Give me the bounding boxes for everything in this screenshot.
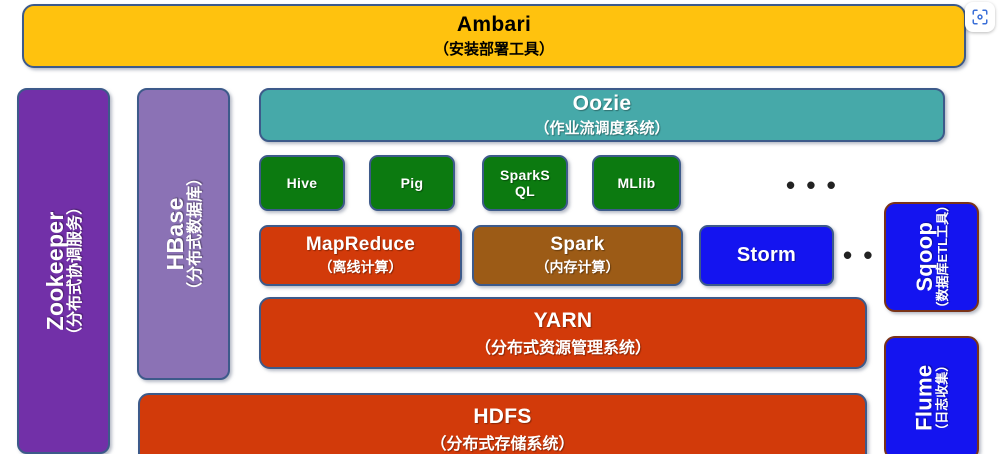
zookeeper-desc: （分布式协调服务） — [67, 199, 85, 343]
storm-block: Storm — [699, 225, 834, 286]
sparksql-title-line2: QL — [515, 183, 535, 199]
mapreduce-block: MapReduce （离线计算） — [259, 225, 462, 286]
zookeeper-label-group: Zookeeper （分布式协调服务） — [43, 199, 85, 343]
tools-ellipsis: • • • — [786, 172, 838, 198]
scan-frame-icon[interactable] — [965, 2, 995, 32]
hbase-desc: （分布式数据库） — [187, 170, 205, 298]
mapreduce-title: MapReduce — [306, 234, 415, 256]
sqoop-label-group: Sqoop （数据库ETL工具） — [913, 202, 950, 312]
storm-title: Storm — [737, 244, 796, 267]
mllib-title: MLlib — [617, 175, 655, 191]
flume-desc: （日志收集） — [936, 359, 950, 437]
yarn-block: YARN （分布式资源管理系统） — [259, 297, 867, 369]
hbase-title: HBase — [163, 197, 187, 270]
pig-title: Pig — [401, 175, 424, 191]
flume-block: Flume （日志收集） — [884, 336, 979, 454]
flume-title: Flume — [913, 365, 936, 431]
oozie-block: Oozie （作业流调度系统） — [259, 88, 945, 142]
yarn-desc: （分布式资源管理系统） — [475, 334, 651, 358]
hdfs-desc: （分布式存储系统） — [430, 430, 574, 454]
hive-block: Hive — [259, 155, 345, 211]
sparksql-title-line1: SparkS — [500, 167, 550, 183]
spark-title: Spark — [550, 234, 604, 256]
hdfs-title: HDFS — [473, 405, 531, 429]
hadoop-ecosystem-diagram: Ambari （安装部署工具） Zookeeper （分布式协调服务） HBas… — [0, 0, 999, 454]
ambari-title: Ambari — [457, 13, 531, 37]
hive-title: Hive — [287, 175, 318, 191]
ambari-desc: （安装部署工具） — [434, 38, 554, 59]
zookeeper-title: Zookeeper — [43, 211, 67, 330]
pig-block: Pig — [369, 155, 455, 211]
zookeeper-block: Zookeeper （分布式协调服务） — [17, 88, 110, 454]
oozie-desc: （作业流调度系统） — [534, 117, 669, 138]
yarn-title: YARN — [534, 309, 593, 333]
spark-block: Spark （内存计算） — [472, 225, 683, 286]
hbase-label-group: HBase （分布式数据库） — [163, 170, 205, 298]
sqoop-desc: （数据库ETL工具） — [936, 202, 950, 312]
mapreduce-desc: （离线计算） — [319, 257, 403, 277]
sqoop-title: Sqoop — [913, 222, 936, 292]
oozie-title: Oozie — [573, 92, 632, 116]
mllib-block: MLlib — [592, 155, 681, 211]
hbase-block: HBase （分布式数据库） — [137, 88, 230, 380]
hdfs-block: HDFS （分布式存储系统） — [138, 393, 867, 454]
flume-label-group: Flume （日志收集） — [913, 359, 950, 437]
spark-desc: （内存计算） — [536, 257, 620, 277]
sqoop-block: Sqoop （数据库ETL工具） — [884, 202, 979, 312]
sparksql-block: SparkS QL — [482, 155, 568, 211]
ambari-block: Ambari （安装部署工具） — [22, 4, 966, 68]
